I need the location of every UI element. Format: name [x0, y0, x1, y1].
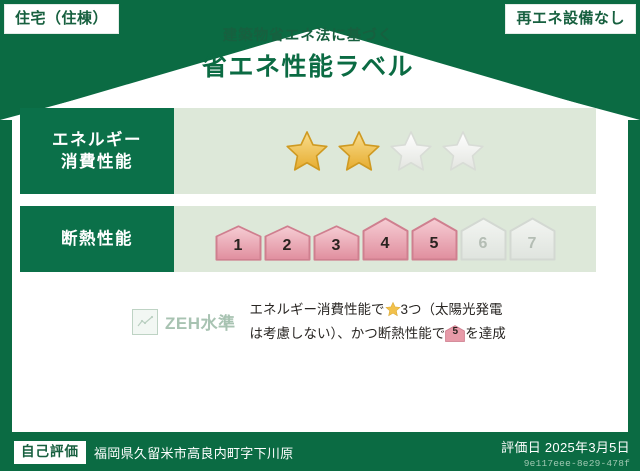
- insulation-performance-label: 断熱性能: [20, 206, 174, 272]
- star-filled-icon: [337, 129, 381, 173]
- property-address: 福岡県久留米市高良内町字下川原: [94, 443, 294, 462]
- evaluation-date: 評価日 2025年3月5日: [501, 437, 630, 456]
- insulation-performance-row: 断熱性能 1234567: [20, 206, 596, 272]
- house-grade-7: 7: [509, 217, 556, 261]
- energy-consumption-label: エネルギー 消費性能: [20, 108, 174, 194]
- energy-label-line-1: エネルギー: [52, 129, 142, 151]
- inline-house-number: 5: [445, 323, 465, 341]
- energy-consumption-row: エネルギー 消費性能: [20, 108, 596, 194]
- zeh-chart-icon: [132, 309, 158, 335]
- title-subtitle: 建築物省エネ法に基づく: [0, 28, 616, 45]
- zeh-description: エネルギー消費性能で3つ（太陽光発電 は考慮しない）、かつ断熱性能で5を達成: [250, 298, 506, 345]
- self-evaluation-badge: 自己評価: [14, 441, 86, 464]
- energy-performance-label: 住宅（住棟） 再エネ設備なし 建築物省エネ法に基づく 省エネ性能ラベル エネルギ…: [0, 0, 640, 471]
- house-grade-5: 5: [411, 217, 458, 261]
- zeh-desc-2-before: は考慮しない）、かつ断熱性能で: [250, 326, 446, 341]
- zeh-note: ZEH水準 エネルギー消費性能で3つ（太陽光発電 は考慮しない）、かつ断熱性能で…: [20, 298, 596, 345]
- footer-left-group: 自己評価 福岡県久留米市高良内町字下川原: [14, 441, 294, 464]
- document-hash: 9e117eee-8e29-478f: [501, 458, 630, 469]
- house-grade-1: 1: [215, 225, 262, 261]
- insulation-performance-value: 1234567: [174, 206, 596, 272]
- star-filled-icon: [285, 129, 329, 173]
- house-grade-6: 6: [460, 217, 507, 261]
- zeh-badge: ZEH水準: [20, 309, 236, 335]
- zeh-desc-1-after: 3つ（太陽光発電: [401, 302, 503, 317]
- zeh-desc-1-before: エネルギー消費性能で: [250, 302, 385, 317]
- house-grade-scale: 1234567: [215, 217, 556, 261]
- energy-consumption-value: [174, 108, 596, 194]
- energy-label-line-2: 消費性能: [61, 151, 133, 173]
- zeh-badge-label: ZEH水準: [165, 309, 236, 334]
- title-block: 建築物省エネ法に基づく 省エネ性能ラベル: [0, 28, 616, 82]
- zeh-desc-2-after: を達成: [465, 326, 506, 341]
- insulation-label-text: 断熱性能: [61, 228, 133, 250]
- house-grade-2: 2: [264, 225, 311, 261]
- star-rating: [285, 129, 485, 173]
- footer-bar: 自己評価 福岡県久留米市高良内町字下川原 評価日 2025年3月5日 9e117…: [0, 432, 640, 471]
- zeh-description-line-1: エネルギー消費性能で3つ（太陽光発電: [250, 298, 506, 322]
- footer-right-group: 評価日 2025年3月5日 9e117eee-8e29-478f: [501, 437, 630, 469]
- inline-star-icon: [385, 301, 401, 317]
- house-grade-3: 3: [313, 225, 360, 261]
- zeh-description-line-2: は考慮しない）、かつ断熱性能で5を達成: [250, 322, 506, 346]
- house-grade-4: 4: [362, 217, 409, 261]
- page-title: 省エネ性能ラベル: [0, 52, 616, 82]
- inline-house-icon: 5: [445, 325, 465, 342]
- star-empty-icon: [389, 129, 433, 173]
- star-empty-icon: [441, 129, 485, 173]
